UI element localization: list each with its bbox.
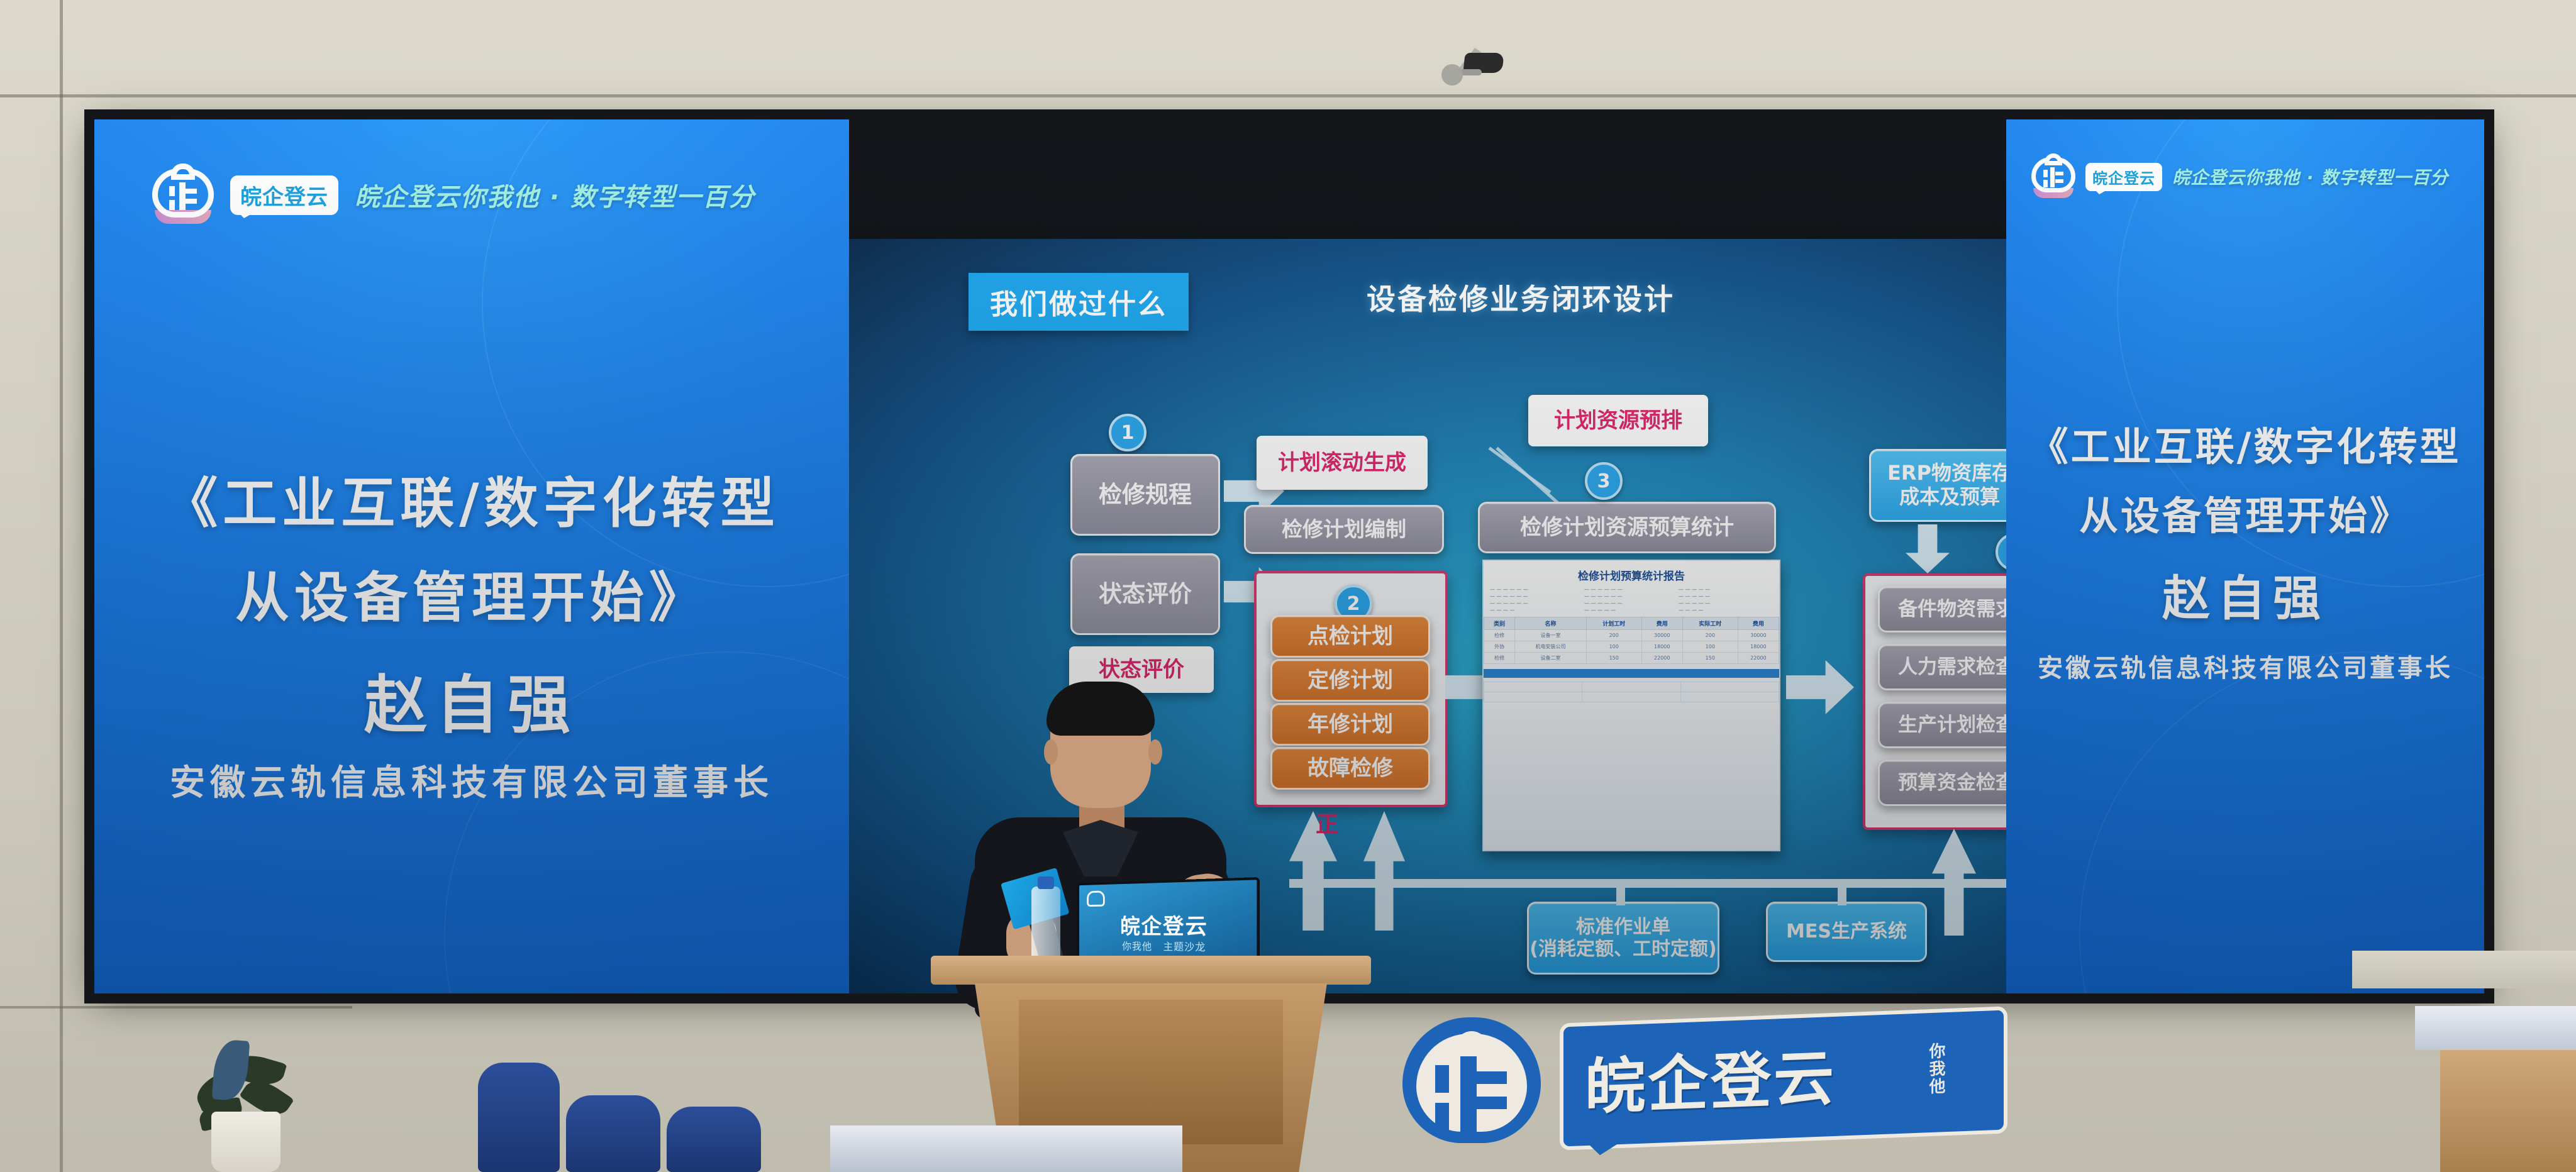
cell: 100 [1682, 641, 1738, 653]
right-title-line1: 《工业互联/数字化转型 [2006, 415, 2484, 472]
cell: 18000 [1738, 641, 1779, 653]
report-col-5: 费用 [1738, 617, 1779, 630]
cell: 18000 [1641, 641, 1682, 653]
slide-top-bar [849, 119, 2192, 239]
laptop-sub-right: 主题沙龙 [1163, 941, 1206, 953]
left-title-panel: 皖企登云 皖企登云你我他 · 数字转型一百分 《工业互联/数字化转型 从设备管理… [94, 119, 849, 993]
table-row: 检修 设备二室 150 22000 150 22000 [1484, 653, 1779, 664]
cell: 200 [1586, 630, 1641, 641]
cell: 22000 [1641, 653, 1682, 664]
backdrop-sign-text: 皖企登云 [1585, 1029, 1836, 1125]
report-subheader-bar [1484, 669, 1779, 678]
node-sow-line1: 标准作业单 [1576, 916, 1670, 938]
node-standard-work-order[interactable]: 标准作业单 (消耗定额、工时定额) [1527, 902, 1719, 975]
wall-seam-vertical [60, 0, 63, 1172]
laptop-logo-icon [1087, 890, 1104, 906]
cloud-gate-logo-icon [152, 169, 214, 221]
cell: 30000 [1738, 630, 1779, 641]
node-mes-system[interactable]: MES生产系统 [1766, 902, 1927, 962]
arrow-up-to-step2-b [1363, 811, 1405, 931]
wall-seam-lower [0, 1006, 352, 1009]
report-col-0: 类别 [1484, 617, 1515, 630]
left-speaker-org: 安徽云轨信息科技有限公司董事长 [94, 755, 849, 805]
backdrop-sign-subtext: 你我他 [1924, 1042, 1948, 1095]
node-erp-line1: ERP物资库存 [1887, 462, 2012, 485]
report-col-1: 名称 [1515, 617, 1587, 630]
left-speaker-name: 赵自强 [94, 654, 849, 745]
cell: 30000 [1641, 630, 1682, 641]
table-row: 外协 机电安装公司 100 18000 100 18000 [1484, 641, 1779, 653]
report-col-3: 费用 [1641, 617, 1682, 630]
step-badge-3: 3 [1585, 462, 1623, 500]
audience-chair [667, 1107, 761, 1172]
audience-chair [566, 1095, 660, 1172]
left-title-line2: 从设备管理开始》 [94, 553, 849, 632]
leader-line-step3-b [1496, 447, 1562, 507]
node-plan-resource-budget-statistics[interactable]: 检修计划资源预算统计 [1478, 502, 1776, 553]
right-speaker-org: 安徽云轨信息科技有限公司董事长 [2006, 648, 2484, 684]
cloud-gate-logo-icon [1402, 1017, 1541, 1143]
table-row [1484, 692, 1779, 702]
node-inspection-procedure[interactable]: 检修规程 [1070, 454, 1220, 536]
node-spot-check-plan[interactable]: 点检计划 [1270, 615, 1430, 658]
cloud-gate-logo-icon [2031, 157, 2075, 196]
brand-tagline: 皖企登云你我他 · 数字转型一百分 [2172, 164, 2448, 189]
report-table-secondary [1484, 682, 1779, 702]
laptop-sub-left: 你我他 [1122, 941, 1152, 953]
cell [1484, 692, 1582, 702]
node-annual-repair-plan[interactable]: 年修计划 [1270, 703, 1430, 746]
led-video-wall: 皖企登云 皖企登云你我他 · 数字转型一百分 《工业互联/数字化转型 从设备管理… [94, 119, 2484, 993]
table-row: 检修 设备一室 200 30000 200 30000 [1484, 630, 1779, 641]
report-col-2: 计划工时 [1586, 617, 1641, 630]
node-maintenance-plan-compilation[interactable]: 检修计划编制 [1244, 505, 1444, 554]
brand-badge: 皖企登云 [230, 175, 338, 215]
cell: 设备二室 [1515, 653, 1587, 664]
backdrop-brand-sign: 皖企登云 你我他 [1402, 1006, 2019, 1172]
step-badge-1: 1 [1109, 414, 1146, 451]
cell [1582, 692, 1680, 702]
arrow-step3-to-step4 [1786, 660, 1854, 714]
brand-tagline: 皖企登云你我他 · 数字转型一百分 [355, 177, 755, 213]
wall-seam-horizontal [0, 94, 2576, 97]
node-erp-line2: 成本及预算 [1899, 485, 2000, 509]
cell [1484, 682, 1582, 692]
callout-resource-prescheduling: 计划资源预排 [1528, 395, 1708, 446]
cell: 外协 [1484, 641, 1515, 653]
left-title-line1: 《工业互联/数字化转型 [94, 459, 849, 538]
audience-table-left [830, 1125, 1182, 1172]
cell: 机电安装公司 [1515, 641, 1587, 653]
table-row [1484, 682, 1779, 692]
audience-chair [478, 1063, 560, 1172]
cell: 100 [1586, 641, 1641, 653]
cell [1680, 692, 1779, 702]
right-title-line2: 从设备管理开始》 [2006, 484, 2484, 541]
brand-badge-text: 皖企登云 [2092, 170, 2155, 187]
right-speaker-name: 赵自强 [2006, 560, 2484, 629]
screenshot-root: 皖企登云 皖企登云你我他 · 数字转型一百分 《工业互联/数字化转型 从设备管理… [0, 0, 2576, 1172]
report-meta: — — — — — —— — — — — —— — — — — — — — — … [1484, 587, 1779, 613]
laptop-title: 皖企登云 [1079, 908, 1257, 941]
node-fixed-repair-plan[interactable]: 定修计划 [1270, 659, 1430, 702]
left-brand-bar: 皖企登云 皖企登云你我他 · 数字转型一百分 [94, 169, 849, 221]
potted-plant [189, 1031, 302, 1172]
report-body: 检修 设备一室 200 30000 200 30000 外协 机电安装公司 10… [1484, 630, 1779, 664]
cell: 150 [1586, 653, 1641, 664]
cell [1582, 682, 1680, 692]
callout-rolling-plan-generation: 计划滚动生成 [1257, 436, 1428, 490]
slide-title: 设备检修业务闭环设计 [849, 277, 2192, 318]
node-sow-line2: (消耗定额、工时定额) [1529, 938, 1716, 960]
brand-badge-text: 皖企登云 [240, 185, 328, 210]
callout-plan-revision-partial: 正 [1289, 805, 1365, 844]
laptop-subtitle: 你我他 主题沙龙 [1079, 937, 1257, 954]
right-title-panel: 皖企登云 皖企登云你我他 · 数字转型一百分 《工业互联/数字化转型 从设备管理… [2006, 119, 2484, 993]
cell: 检修 [1484, 630, 1515, 641]
cell: 设备一室 [1515, 630, 1587, 641]
embedded-report-screenshot: 检修计划预算统计报告 — — — — — —— — — — — —— — — —… [1482, 560, 1780, 851]
side-table-top [2415, 1006, 2576, 1050]
report-table: 类别 名称 计划工时 费用 实际工时 费用 检修 设备一室 200 [1484, 617, 1779, 664]
side-desk-wall [2352, 951, 2576, 988]
cell: 150 [1682, 653, 1738, 664]
rail-drop-mes [1838, 879, 1846, 905]
report-col-4: 实际工时 [1682, 617, 1738, 630]
report-header-row: 类别 名称 计划工时 费用 实际工时 费用 [1484, 617, 1779, 630]
report-title: 检修计划预算统计报告 [1484, 567, 1779, 583]
security-camera-icon [1440, 44, 1509, 88]
cell: 检修 [1484, 653, 1515, 664]
side-table-body [2440, 1050, 2576, 1172]
cell: 22000 [1738, 653, 1779, 664]
rail-drop-sow [1616, 879, 1625, 905]
node-condition-assessment[interactable]: 状态评价 [1070, 553, 1220, 635]
brand-badge: 皖企登云 [2085, 163, 2162, 191]
cell: 200 [1682, 630, 1738, 641]
arrow-erp-down [1906, 524, 1950, 573]
cell [1680, 682, 1779, 692]
right-brand-bar: 皖企登云 皖企登云你我他 · 数字转型一百分 [2006, 157, 2484, 196]
node-fault-repair[interactable]: 故障检修 [1270, 747, 1430, 790]
